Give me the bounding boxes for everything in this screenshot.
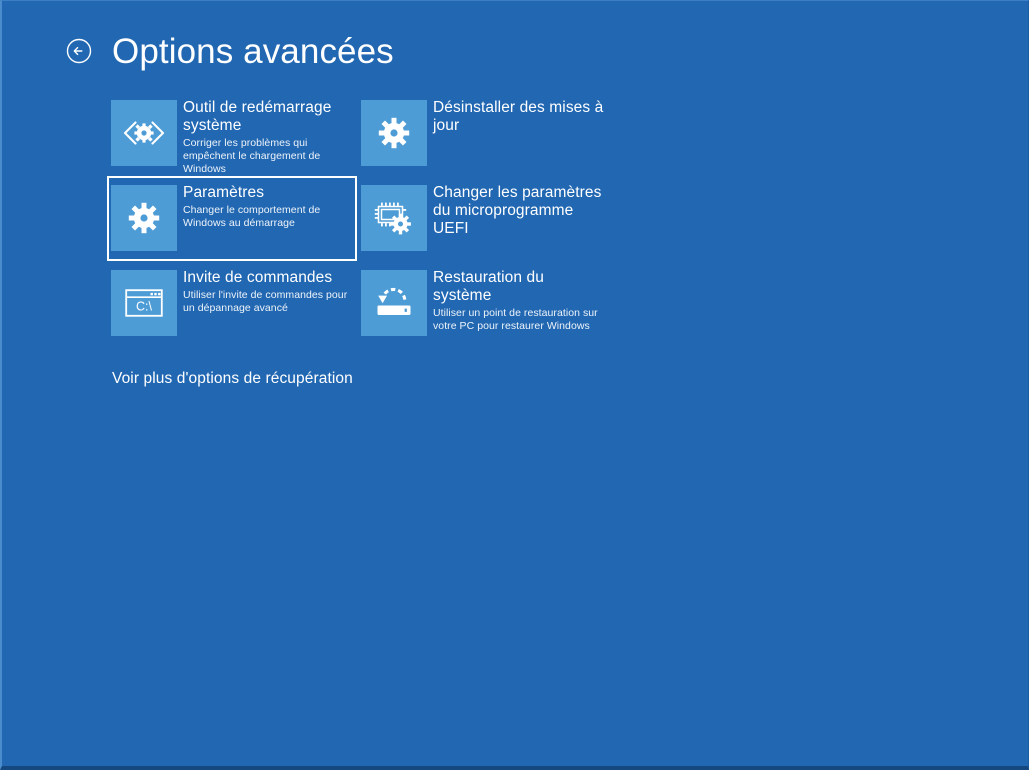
option-title: Changer les paramètres du microprogramme…	[433, 184, 605, 238]
startup-repair-icon	[111, 100, 177, 166]
page-header: Options avancées	[2, 21, 1028, 81]
back-arrow-circle-icon[interactable]	[64, 36, 94, 66]
option-text: Invite de commandes Utiliser l'invite de…	[183, 263, 355, 315]
system-restore-icon	[361, 270, 427, 336]
command-prompt-icon: C:\	[111, 270, 177, 336]
option-startup-repair[interactable]: Outil de redémarrage système Corriger le…	[107, 91, 357, 176]
option-title: Paramètres	[183, 184, 355, 202]
option-title: Outil de redémarrage système	[183, 99, 355, 135]
options-row: Paramètres Changer le comportement de Wi…	[107, 176, 667, 261]
option-text: Désinstaller des mises à jour	[433, 93, 605, 137]
option-description: Utiliser un point de restauration sur vo…	[433, 307, 605, 333]
option-title: Désinstaller des mises à jour	[433, 99, 605, 135]
uefi-chip-gear-icon	[361, 185, 427, 251]
option-title: Restauration du système	[433, 269, 605, 305]
option-description: Changer le comportement de Windows au dé…	[183, 204, 355, 230]
page-title: Options avancées	[112, 34, 394, 69]
recovery-screen: Options avancées	[0, 0, 1029, 770]
option-command-prompt[interactable]: C:\ Invite de commandes Utiliser l'invit…	[107, 261, 357, 346]
option-system-restore[interactable]: Restauration du système Utiliser un poin…	[357, 261, 607, 346]
svg-text:C:\: C:\	[136, 299, 153, 313]
option-uninstall-updates[interactable]: Désinstaller des mises à jour	[357, 91, 607, 176]
option-startup-settings[interactable]: Paramètres Changer le comportement de Wi…	[107, 176, 357, 261]
option-text: Outil de redémarrage système Corriger le…	[183, 93, 355, 176]
option-description: Utiliser l'invite de commandes pour un d…	[183, 289, 355, 315]
options-row: C:\ Invite de commandes Utiliser l'invit…	[107, 261, 667, 346]
option-text: Paramètres Changer le comportement de Wi…	[183, 178, 355, 230]
option-uefi-firmware-settings[interactable]: Changer les paramètres du microprogramme…	[357, 176, 607, 261]
more-recovery-options-link[interactable]: Voir plus d'options de récupération	[112, 370, 353, 388]
gear-icon	[361, 100, 427, 166]
options-row: Outil de redémarrage système Corriger le…	[107, 91, 667, 176]
option-description: Corriger les problèmes qui empêchent le …	[183, 137, 355, 176]
option-text: Changer les paramètres du microprogramme…	[433, 178, 605, 240]
advanced-options-grid: Outil de redémarrage système Corriger le…	[107, 91, 667, 346]
option-text: Restauration du système Utiliser un poin…	[433, 263, 605, 333]
option-title: Invite de commandes	[183, 269, 355, 287]
gear-icon	[111, 185, 177, 251]
